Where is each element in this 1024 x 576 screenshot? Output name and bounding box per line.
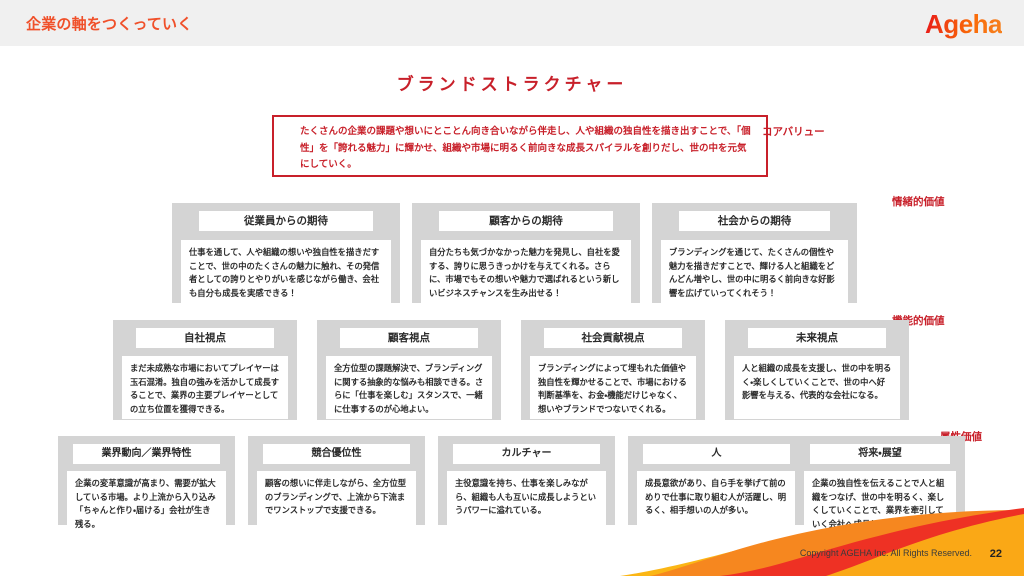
card-society-expectation[interactable]: 社会からの期待 ブランディングを通じて、たくさんの個性や魅力を描きだすことで、輝…: [652, 203, 857, 303]
card-competitive-advantage[interactable]: 競合優位性 顧客の想いに伴走しながら、全方位型のブランディングで、上流から下流ま…: [248, 436, 425, 525]
card-culture[interactable]: カルチャー 主役意識を持ち、仕事を楽しみながら、組織も人も互いに成長しようという…: [438, 436, 615, 525]
card-title: 社会からの期待: [679, 211, 830, 231]
card-body: ブランディングによって埋もれた価値や独自性を輝かせることで、市場における判断基準…: [530, 356, 696, 419]
card-body: 顧客の想いに伴走しながら、全方位型のブランディングで、上流から下流までワンストッ…: [257, 471, 416, 526]
card-title: 業界動向／業界特性: [73, 444, 220, 464]
card-own-company-perspective[interactable]: 自社視点 まだ未成熟な市場においてプレイヤーは玉石混淆。独自の強みを活かして成長…: [113, 320, 297, 420]
card-title: カルチャー: [453, 444, 600, 464]
card-body: 企業の独自性を伝えることで人と組織をつなげ、世の中を明るく、楽しくしていくことで…: [804, 471, 956, 526]
card-title: 未来視点: [748, 328, 886, 348]
card-title: 将来・展望: [810, 444, 950, 464]
card-customer-expectation[interactable]: 顧客からの期待 自分たちも気づかなかった魅力を発見し、自社を愛する、誇りに思うき…: [412, 203, 640, 303]
page-title: ブランドストラクチャー: [0, 70, 1024, 95]
footer-copyright: Copyright AGEHA Inc. All Rights Reserved…: [800, 548, 972, 558]
card-title: 自社視点: [136, 328, 274, 348]
card-social-contribution-perspective[interactable]: 社会貢献視点 ブランディングによって埋もれた価値や独自性を輝かせることで、市場に…: [521, 320, 705, 420]
footer-page-number: 22: [990, 548, 1002, 560]
card-customer-perspective[interactable]: 顧客視点 全方位型の課題解決で、ブランディングに関する抽象的な悩みも相談できる。…: [317, 320, 501, 420]
card-title: 従業員からの期待: [199, 211, 373, 231]
card-employee-expectation[interactable]: 従業員からの期待 仕事を通して、人や組織の想いや独自性を描きだすことで、世の中の…: [172, 203, 400, 303]
card-body: 主役意識を持ち、仕事を楽しみながら、組織も人も互いに成長しようというパワーに溢れ…: [447, 471, 606, 526]
label-core-value: コアバリュー: [762, 124, 825, 139]
card-body: 人と組織の成長を支援し、世の中を明るく・楽しくしていくことで、世の中へ好影響を与…: [734, 356, 900, 419]
core-value-text: たくさんの企業の課題や想いにとことん向き合いながら伴走し、人や組織の独自性を描き…: [300, 124, 752, 174]
card-body: 仕事を通して、人や組織の想いや独自性を描きだすことで、世の中のたくさんの魅力に触…: [181, 240, 391, 303]
card-title: 人: [643, 444, 790, 464]
card-future-perspective[interactable]: 未来視点 人と組織の成長を支援し、世の中を明るく・楽しくしていくことで、世の中へ…: [725, 320, 909, 420]
card-title: 競合優位性: [263, 444, 410, 464]
card-people[interactable]: 人 成長意欲があり、自ら手を挙げて前のめりで仕事に取り組む人が活躍し、明るく、相…: [628, 436, 805, 525]
card-body: 自分たちも気づかなかった魅力を発見し、自社を愛する、誇りに思うきっかけを与えてく…: [421, 240, 631, 303]
card-body: ブランディングを通じて、たくさんの個性や魅力を描きだすことで、輝ける人と組織をど…: [661, 240, 848, 303]
card-body: まだ未成熟な市場においてプレイヤーは玉石混淆。独自の強みを活かして成長することで…: [122, 356, 288, 419]
card-industry-trends[interactable]: 業界動向／業界特性 企業の変革意識が高まり、需要が拡大している市場。より上流から…: [58, 436, 235, 525]
header-bar: 企業の軸をつくっていく Ageha: [0, 0, 1024, 46]
card-title: 社会貢献視点: [544, 328, 682, 348]
label-emotional-value: 情緒的価値: [892, 194, 945, 209]
card-future-outlook[interactable]: 将来・展望 企業の独自性を伝えることで人と組織をつなげ、世の中を明るく、楽しくし…: [795, 436, 965, 525]
card-title: 顧客からの期待: [439, 211, 613, 231]
card-title: 顧客視点: [340, 328, 478, 348]
core-value-box: たくさんの企業の課題や想いにとことん向き合いながら伴走し、人や組織の独自性を描き…: [272, 115, 768, 177]
ageha-logo: Ageha: [925, 9, 1002, 40]
card-body: 全方位型の課題解決で、ブランディングに関する抽象的な悩みも相談できる。さらに「仕…: [326, 356, 492, 419]
page-header-title: 企業の軸をつくっていく: [26, 13, 192, 34]
card-body: 企業の変革意識が高まり、需要が拡大している市場。より上流から入り込み「ちゃんと作…: [67, 471, 226, 526]
slide-canvas: 企業の軸をつくっていく Ageha ブランドストラクチャー たくさんの企業の課題…: [0, 0, 1024, 576]
card-body: 成長意欲があり、自ら手を挙げて前のめりで仕事に取り組む人が活躍し、明るく、相手想…: [637, 471, 796, 526]
